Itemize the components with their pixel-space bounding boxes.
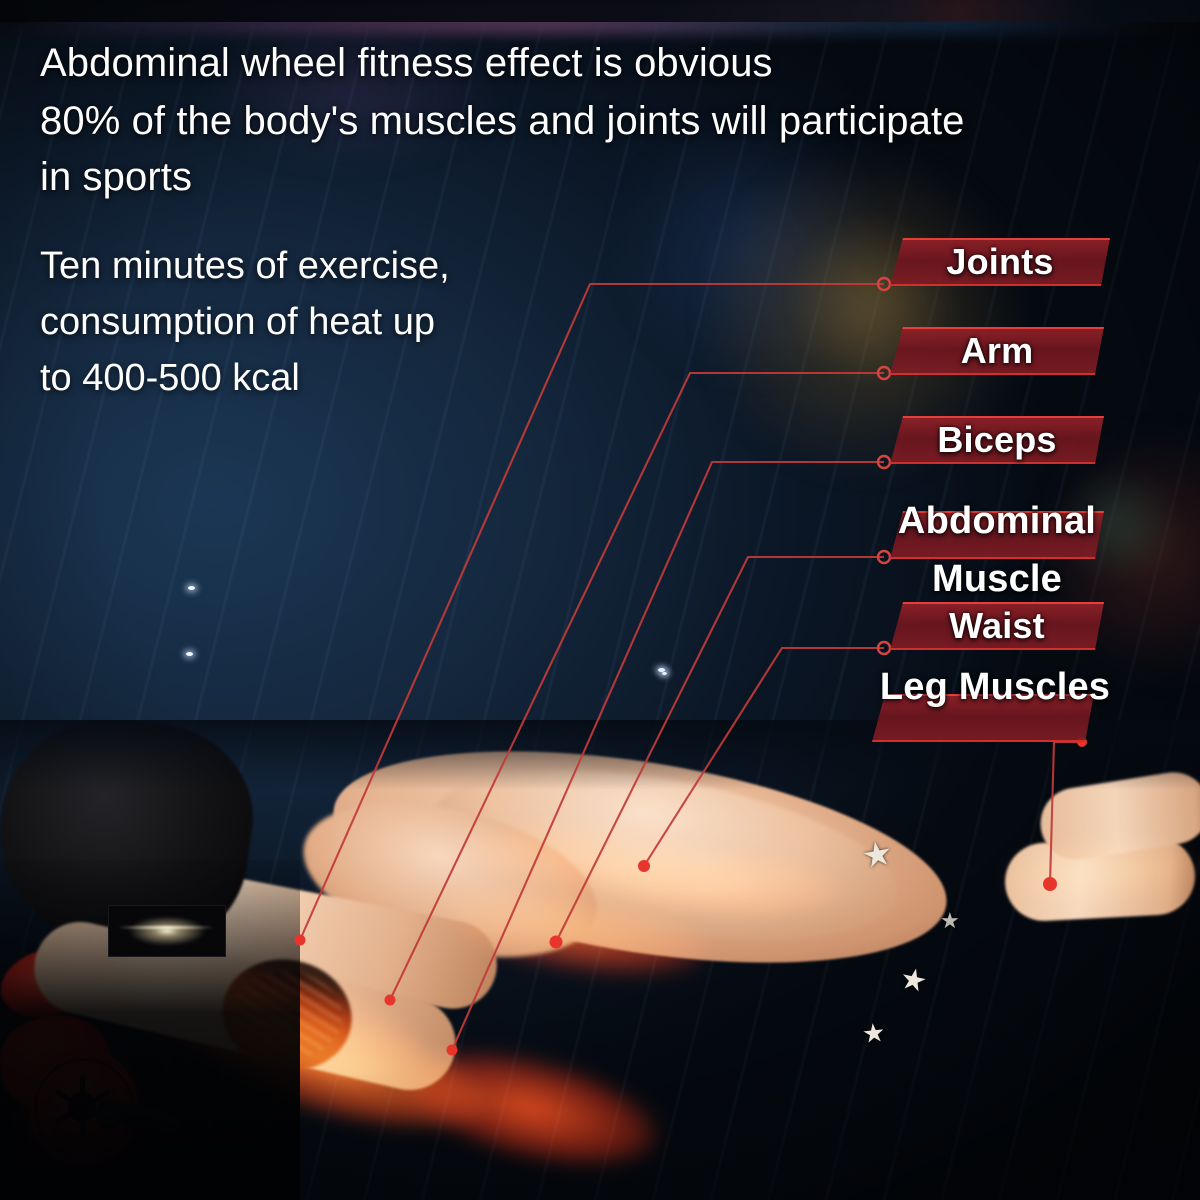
star-motif: ★ xyxy=(859,836,895,875)
callout-label-biceps: Biceps xyxy=(890,419,1104,461)
infographic-poster: ★ ★ ★ ★ xyxy=(0,0,1200,1200)
star-motif: ★ xyxy=(897,964,930,999)
secondary-line-1: Ten minutes of exercise, xyxy=(40,238,450,294)
sparkle-dot xyxy=(662,672,667,675)
star-motif: ★ xyxy=(861,1019,887,1047)
headline-line-2: 80% of the body's muscles and joints wil… xyxy=(40,92,1200,150)
sparkle-dot xyxy=(188,586,195,590)
secondary-line-3: to 400-500 kcal xyxy=(40,350,450,406)
secondary-line-2: consumption of heat up xyxy=(40,294,450,350)
callout-label-leg-muscles: Leg Muscles xyxy=(860,658,1130,716)
sparkle-dot xyxy=(186,652,193,656)
headline-line-1: Abdominal wheel fitness effect is obviou… xyxy=(40,34,1200,92)
callout-label-arm: Arm xyxy=(890,330,1104,372)
headline-block: Abdominal wheel fitness effect is obviou… xyxy=(40,34,1200,204)
lens-flare xyxy=(128,916,206,946)
callout-label-waist: Waist xyxy=(890,605,1104,647)
athlete-photo: ★ ★ ★ ★ xyxy=(0,720,1200,1200)
headline-line-3: in sports xyxy=(40,150,1200,204)
lens-flare-streak xyxy=(118,926,214,929)
callout-label-joints: Joints xyxy=(890,241,1110,283)
star-motif: ★ xyxy=(940,910,960,932)
callout-label-abdominal-muscle: Abdominal Muscle xyxy=(862,492,1132,608)
secondary-copy-block: Ten minutes of exercise, consumption of … xyxy=(40,238,450,406)
